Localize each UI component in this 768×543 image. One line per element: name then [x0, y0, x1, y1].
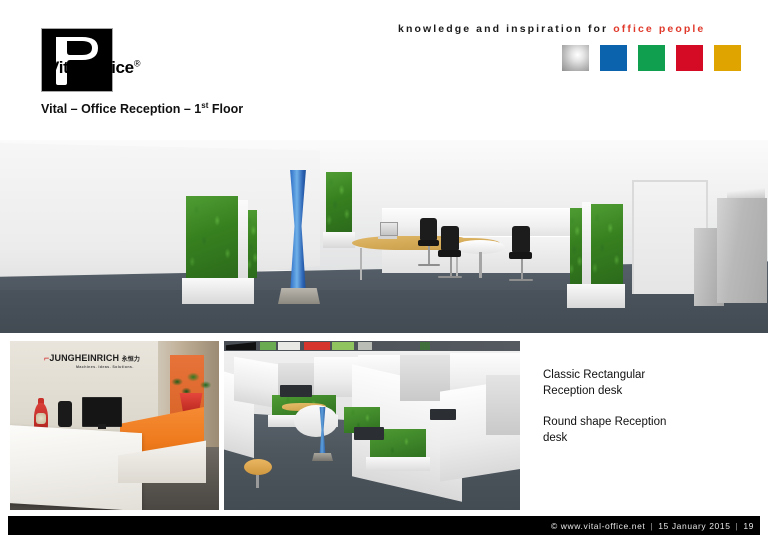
chair-back	[512, 226, 530, 252]
chair-seat	[509, 252, 532, 259]
task-chair-1	[420, 218, 440, 266]
caption-spacer	[543, 399, 758, 415]
jungheinrich-logo-cn: 永恒力	[122, 357, 140, 363]
strip-chip-olive	[420, 342, 430, 350]
column-stone-base	[278, 288, 320, 304]
floorplan-side-table	[244, 459, 272, 475]
photo-jungheinrich-reception: ⌐JUNGHEINRICH 永恒力 Machines. Ideas. Solut…	[10, 341, 219, 510]
desk-leg-post	[360, 248, 362, 280]
page-title: Vital – Office Reception – 1st Floor	[41, 101, 243, 116]
logo-registered-mark: ®	[134, 58, 140, 68]
chair-seat	[438, 250, 461, 257]
captions-block: Classic Rectangular Reception desk Round…	[543, 368, 758, 446]
swatch-green	[638, 45, 665, 71]
caption-line-2: Reception desk	[543, 384, 758, 400]
strip-chip-green	[260, 342, 276, 350]
strip-chip-lightgreen	[332, 342, 354, 350]
floorplan-bench-1	[280, 385, 312, 397]
brand-swatches	[562, 45, 741, 71]
plant-pot	[182, 278, 254, 304]
task-chair-2	[441, 226, 462, 278]
plant-leaves	[326, 172, 352, 232]
plant-panel	[582, 202, 591, 284]
floorplan-bench-3	[430, 409, 456, 420]
plant-divider-corner	[326, 172, 355, 248]
photo-floorplan-render	[224, 341, 520, 510]
chair-post	[521, 259, 523, 279]
plant-leaves-back	[248, 210, 257, 278]
desk-leg	[360, 248, 362, 280]
laptop	[380, 222, 398, 239]
carpet-floor-lower	[0, 290, 768, 333]
swatch-silver	[562, 45, 589, 71]
floorplan-plant-pot-3	[366, 457, 430, 471]
footer-page-number: 19	[743, 521, 754, 531]
photo-vase-decoration	[36, 413, 46, 424]
jungheinrich-wall-tagline: Machines. Ideas. Solutions.	[76, 365, 134, 369]
plant-leaves	[591, 204, 623, 284]
task-chair-3	[512, 226, 533, 281]
chair-base	[438, 276, 462, 278]
footer-site[interactable]: www.vital-office.net	[561, 521, 646, 531]
photo-monitor	[82, 397, 122, 427]
strip-chip-white	[278, 342, 300, 350]
footer-separator-2: |	[731, 521, 744, 531]
reception-counter-body	[717, 198, 767, 303]
left-wall	[0, 143, 320, 293]
swatch-red	[676, 45, 703, 71]
floorplan-bench-2	[354, 427, 384, 440]
plant-divider-right	[570, 202, 625, 308]
footer-text: © www.vital-office.net|15 January 2015|1…	[551, 521, 754, 531]
chair-back	[441, 226, 459, 250]
hero-render-image	[0, 140, 768, 333]
plant-divider-left	[186, 196, 257, 304]
footer-copyright-icon: ©	[551, 521, 558, 531]
footer-date: 15 January 2015	[658, 521, 730, 531]
tagline: knowledge and inspiration for office peo…	[398, 23, 705, 35]
tagline-main: knowledge and inspiration for	[398, 23, 613, 35]
jungheinrich-logo-text: JUNGHEINRICH	[49, 353, 119, 363]
tagline-accent: office people	[613, 23, 705, 35]
plant-pot	[567, 284, 625, 308]
caption-line-1: Classic Rectangular	[543, 368, 758, 384]
partition-wall-far-right	[486, 375, 520, 435]
logo-wordmark-text: Vital-Office	[48, 58, 134, 77]
floorplan-round-reception-desk	[294, 405, 338, 437]
caption-line-3: Round shape Reception	[543, 415, 758, 431]
swatch-gold	[714, 45, 741, 71]
laptop-keyboard	[378, 236, 397, 239]
strip-chip-gray	[358, 342, 372, 350]
page-title-after: Floor	[208, 102, 243, 116]
chair-back	[420, 218, 437, 240]
footer-separator-1: |	[645, 521, 658, 531]
plant-leaves-side	[570, 208, 582, 284]
chair-base	[509, 279, 533, 281]
round-table-leg	[479, 252, 482, 278]
page-title-before: Vital – Office Reception – 1	[41, 102, 201, 116]
plant-pot	[323, 232, 355, 248]
chair-post	[450, 257, 452, 276]
swatch-blue	[600, 45, 627, 71]
caption-line-4: desk	[543, 431, 758, 447]
plant-panel	[238, 200, 248, 278]
plant-leaves	[186, 196, 238, 278]
logo-wordmark: Vital-Office®	[48, 58, 140, 78]
strip-chip-red	[304, 342, 330, 350]
slide: Vital-Office® knowledge and inspiration …	[0, 0, 768, 543]
chair-post	[428, 246, 430, 264]
photo-monitor-stand	[98, 424, 106, 429]
chair-base	[418, 264, 440, 266]
laptop-screen	[380, 222, 398, 236]
floorplan-column-base	[312, 453, 333, 461]
jungheinrich-wall-logo: ⌐JUNGHEINRICH 永恒力	[44, 353, 140, 363]
photo-office-chair	[58, 401, 72, 427]
